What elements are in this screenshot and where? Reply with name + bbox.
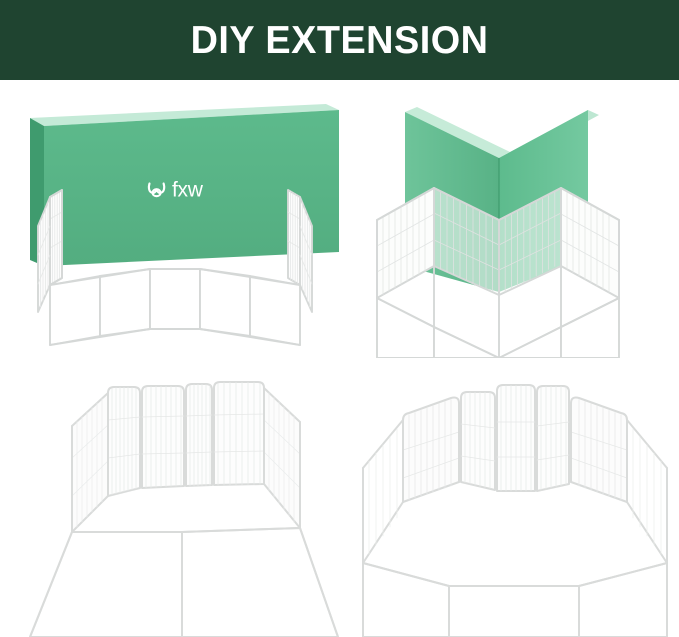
octagon-playpen-scene	[339, 358, 679, 637]
fence-panel-front-1	[50, 276, 100, 345]
page-title: DIY EXTENSION	[191, 21, 489, 60]
header-banner: DIY EXTENSION	[0, 0, 679, 80]
panel-corner-wall-extension	[339, 80, 679, 358]
fence-panel-left-side	[363, 420, 403, 563]
fence-panel-right-side	[264, 388, 300, 528]
panel-square-playpen	[0, 358, 339, 637]
fence-panel-back-2	[142, 386, 184, 488]
fence-panel-right-back	[288, 190, 300, 285]
fence-panel-front-4	[200, 269, 250, 336]
playpen-fence	[363, 385, 667, 637]
fence-panel-front-5	[250, 276, 300, 345]
panel-octagon-playpen	[339, 358, 679, 637]
playpen-fence	[30, 382, 338, 637]
fence-panel-right-side	[627, 420, 667, 563]
fence-panel-front-center	[449, 586, 579, 637]
fence-panel-front-2	[100, 269, 150, 336]
straight-wall-scene: fxw	[0, 80, 339, 358]
fence-panel-front-left	[377, 298, 434, 358]
fence-panel-left-side	[72, 393, 108, 532]
fence-panel-back-center	[497, 385, 535, 491]
fence-panel-front-right	[182, 528, 338, 637]
brand-wordmark: fxw	[172, 179, 204, 202]
fence-panel-upper-right	[571, 398, 627, 502]
panel-grid: fxw	[0, 80, 679, 637]
fence-panel-front-left	[30, 532, 182, 637]
fence-panel-upper-left	[403, 398, 459, 502]
panel-straight-wall-extension: fxw	[0, 80, 339, 358]
fence-panel-back-3	[186, 384, 212, 486]
corner-wall-scene	[339, 80, 679, 358]
square-playpen-scene	[0, 358, 339, 637]
diy-extension-infographic: DIY EXTENSION	[0, 0, 679, 637]
fence-panel-back-4	[214, 382, 264, 485]
fence-panel-back-center-right	[537, 386, 569, 491]
fence-panel-front-right	[561, 298, 619, 358]
fence-panel-back-center-left	[461, 392, 495, 490]
fence-panel-back-1	[108, 387, 140, 496]
fence-panel-left-back	[50, 190, 62, 285]
fence-panel-front-3	[150, 269, 200, 329]
